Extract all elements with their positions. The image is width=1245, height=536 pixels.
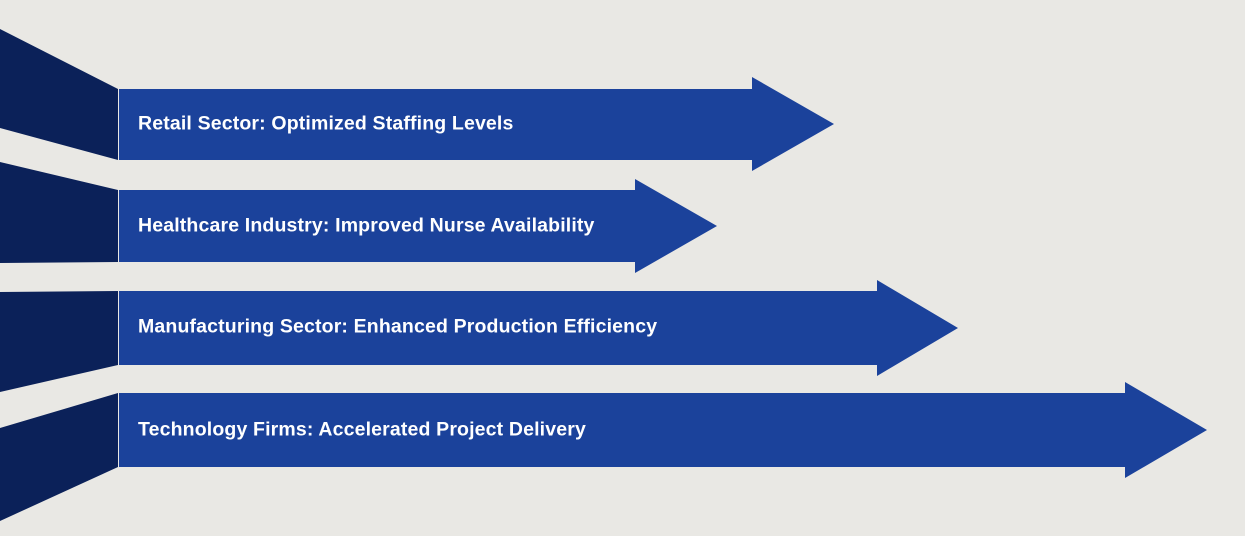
arrow-body-healthcare — [119, 179, 717, 273]
arrow-body-technology — [119, 382, 1207, 478]
arrow-body-retail — [119, 77, 834, 171]
arrow-body-manufacturing — [119, 280, 958, 376]
arrow-process-diagram: Retail Sector: Optimized Staffing Levels… — [0, 0, 1245, 536]
diagram-canvas — [0, 0, 1245, 536]
